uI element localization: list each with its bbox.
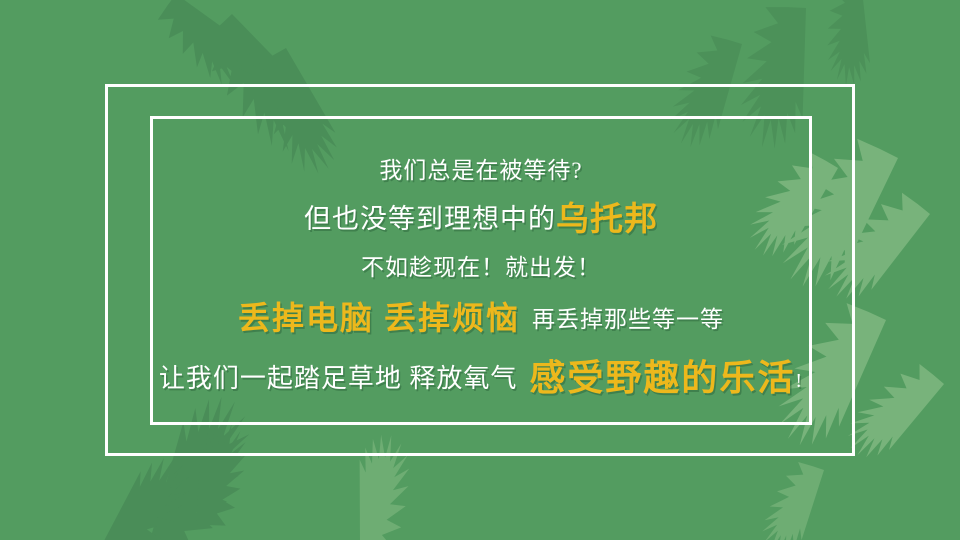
line-5-tail-text: ! [795, 370, 803, 392]
headline-line-4: 丢掉电脑 丢掉烦恼再丢掉那些等一等 [150, 302, 812, 336]
slide-text-block: 我们总是在被等待? 但也没等到理想中的乌托邦 不如趁现在！就出发！ 丢掉电脑 丢… [150, 116, 812, 425]
line-4-white-text: 再丢掉那些等一等 [532, 307, 724, 332]
headline-line-3: 不如趁现在！就出发！ [150, 256, 812, 280]
line-2-accent-text: 乌托邦 [556, 202, 658, 238]
headline-line-1: 我们总是在被等待? [150, 159, 812, 183]
line-4-accent-text: 丢掉电脑 丢掉烦恼 [238, 300, 520, 336]
line-1-text: 我们总是在被等待? [379, 158, 582, 183]
line-2-white-text: 但也没等到理想中的 [304, 204, 556, 234]
headline-line-5: 让我们一起踏足草地 释放氧气感受野趣的乐活! [150, 360, 812, 398]
line-5-accent-text: 感受野趣的乐活 [529, 358, 795, 398]
line-5-white-text: 让我们一起踏足草地 释放氧气 [159, 364, 518, 393]
line-3-text: 不如趁现在！就出发！ [361, 255, 601, 280]
slide-canvas: 我们总是在被等待? 但也没等到理想中的乌托邦 不如趁现在！就出发！ 丢掉电脑 丢… [0, 0, 960, 540]
headline-line-2: 但也没等到理想中的乌托邦 [150, 203, 812, 238]
